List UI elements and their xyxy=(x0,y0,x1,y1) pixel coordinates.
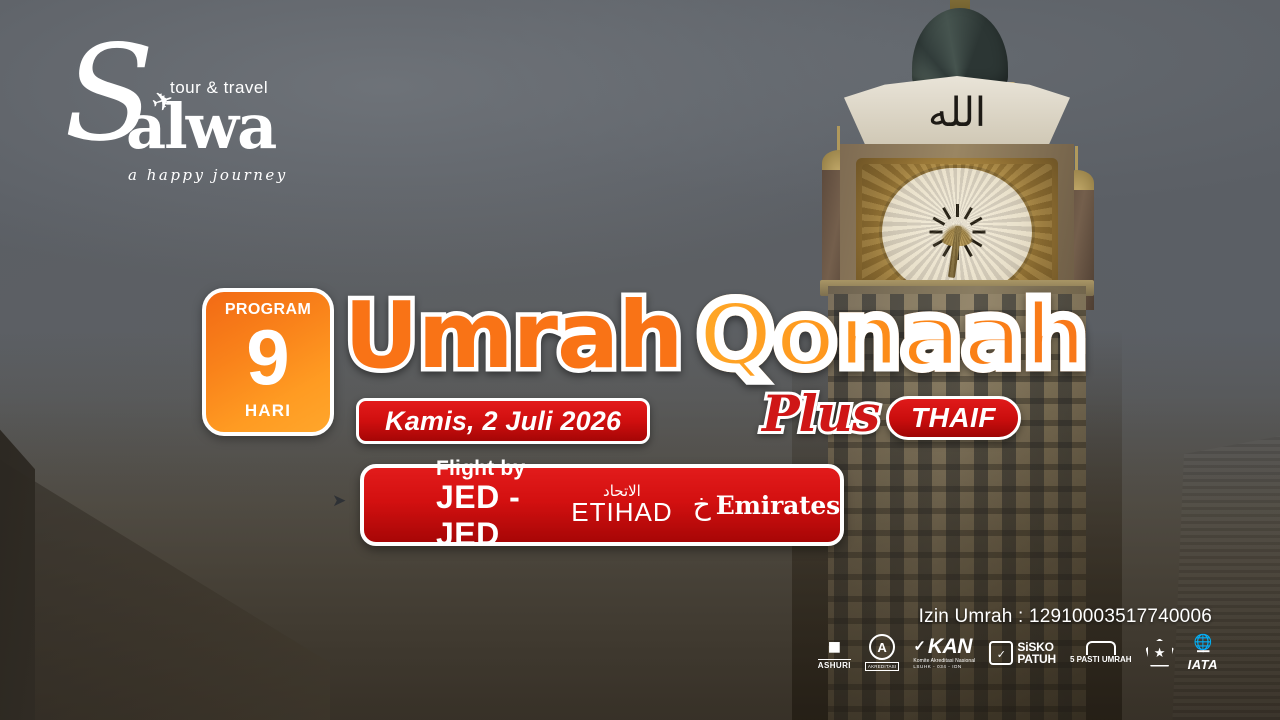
seal-grade: A xyxy=(869,634,895,660)
flight-route-group: Flight by JED - JED xyxy=(436,457,549,553)
certification-logos: ■ ASHURI A AKREDITASI ✓ KAN Komite Akred… xyxy=(818,634,1218,671)
etihad-name: ETIHAD xyxy=(571,499,672,526)
kan-line2: LSUHK - 034 - IDN xyxy=(913,664,961,669)
clock-hand xyxy=(947,225,961,277)
clock-gold-frame xyxy=(856,158,1058,290)
thaif-label: THAIF xyxy=(911,402,996,434)
page-title: UmrahQonaah xyxy=(344,290,1087,382)
ashuri-book-icon: ■ ASHURI xyxy=(818,636,851,670)
pasti-umrah-label: 5 PASTI UMRAH xyxy=(1070,656,1132,664)
flight-info-box: Flight by JED - JED الاتحاد ETIHAD خ Emi… xyxy=(360,464,844,546)
seal-sub: AKREDITASI xyxy=(865,662,899,671)
ashuri-label: ASHURI xyxy=(818,659,851,670)
patuh-label: PATUH xyxy=(1017,653,1056,665)
emirates-calligraphy-icon: خ xyxy=(693,491,711,519)
kan-check-mark: ✓ xyxy=(913,639,926,654)
emirates-logo: خ Emirates xyxy=(693,491,840,520)
etihad-logo: الاتحاد ETIHAD xyxy=(571,484,672,526)
sisko-label: SiSKO xyxy=(1017,641,1056,653)
turret-pin-right xyxy=(1075,146,1078,172)
emirates-name: Emirates xyxy=(716,491,840,520)
garuda-emblem-icon: ★ xyxy=(1146,639,1174,667)
bird-silhouette-icon: ➤ xyxy=(332,492,354,506)
departure-date-badge: Kamis, 2 Juli 2026 xyxy=(356,398,650,444)
program-duration-badge: PROGRAM 9 HARI xyxy=(202,288,334,436)
clock-face xyxy=(882,168,1032,296)
pasti-umrah-icon: 5 PASTI UMRAH xyxy=(1070,641,1132,664)
badge-hari-label: HARI xyxy=(245,401,291,421)
clock-palm-ornament xyxy=(940,224,974,246)
license-number: Izin Umrah : 12910003517740006 xyxy=(919,606,1212,628)
logo-tagline-bottom: a happy journey xyxy=(128,166,288,184)
title-word-umrah: Umrah xyxy=(344,290,683,382)
logo-brand-name: alwa xyxy=(126,96,275,158)
flight-route-text: JED - JED xyxy=(436,479,549,553)
departure-date-text: Kamis, 2 Juli 2026 xyxy=(385,406,621,437)
allah-calligraphy-icon: الله xyxy=(844,78,1070,148)
plus-script-label: Plus xyxy=(762,384,879,443)
badge-days-number: 9 xyxy=(246,326,289,390)
kan-check-icon: ✓ KAN Komite Akreditasi Nasional LSUHK -… xyxy=(913,636,975,669)
brand-logo: S ✈ tour & travel alwa a happy journey xyxy=(64,34,294,166)
sisko-kaaba-icon: ✓ SiSKO PATUH xyxy=(989,641,1056,665)
title-word-qonaah: Qonaah xyxy=(697,290,1088,382)
promo-banner: الله ➤ xyxy=(0,0,1280,720)
kan-label: KAN xyxy=(928,636,972,657)
flight-by-label: Flight by xyxy=(436,457,549,481)
iata-globe-wings-icon: 🌐 ━━ IATA xyxy=(1188,635,1218,671)
thaif-destination-badge: THAIF xyxy=(886,396,1021,440)
iata-label: IATA xyxy=(1188,658,1218,671)
accreditation-seal-icon: A AKREDITASI xyxy=(865,634,899,671)
